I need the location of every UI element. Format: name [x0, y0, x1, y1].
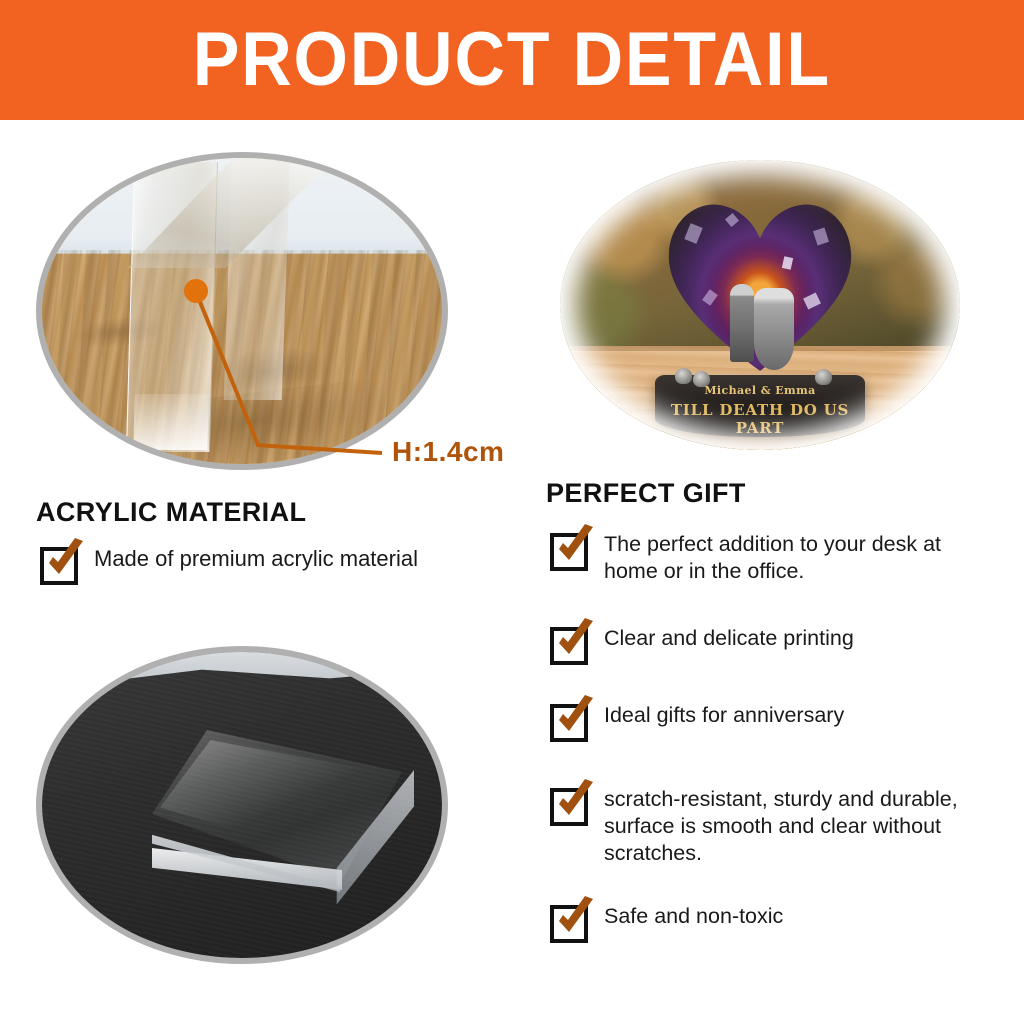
checkbox-checked-icon	[550, 627, 588, 665]
header-banner: PRODUCT DETAIL	[0, 0, 1024, 120]
list-item-label: scratch-resistant, sturdy and durable, s…	[604, 786, 1010, 867]
checkbox-checked-icon	[550, 533, 588, 571]
page-title: PRODUCT DETAIL	[193, 22, 831, 98]
slab-bottom-highlight	[133, 394, 208, 450]
checkmark-icon	[552, 695, 598, 741]
list-item: Made of premium acrylic material	[40, 545, 510, 585]
list-item-label: Made of premium acrylic material	[94, 545, 418, 573]
photo-acrylic-block	[36, 646, 448, 964]
acrylic-slab	[42, 158, 442, 464]
checkmark-icon	[552, 896, 598, 942]
checkmark-icon	[42, 538, 88, 584]
height-label: H:1.4cm	[392, 436, 504, 468]
checkbox-checked-icon	[550, 905, 588, 943]
list-item: Clear and delicate printing	[550, 625, 1000, 665]
list-item-label: Clear and delicate printing	[604, 625, 854, 652]
list-item-label: Safe and non-toxic	[604, 903, 783, 930]
checkbox-checked-icon	[550, 704, 588, 742]
slate-top-edge	[42, 652, 442, 701]
photo-product-lamp: Michael & Emma TILL DEATH DO US PART	[560, 160, 960, 450]
list-item: Safe and non-toxic	[550, 903, 1000, 943]
checkbox-checked-icon	[550, 788, 588, 826]
list-item-label: Ideal gifts for anniversary	[604, 702, 844, 729]
checkmark-icon	[552, 618, 598, 664]
slab-shadow	[188, 376, 395, 470]
checkmark-icon	[552, 524, 598, 570]
photo-acrylic-edge	[36, 152, 448, 470]
heading-acrylic-material: ACRYLIC MATERIAL	[36, 497, 306, 528]
heading-perfect-gift: PERFECT GIFT	[546, 478, 746, 509]
oval-vignette	[560, 160, 960, 450]
list-item-label: The perfect addition to your desk at hom…	[604, 531, 1000, 585]
acrylic-square-block	[152, 730, 402, 900]
checkbox-checked-icon	[40, 547, 78, 585]
checkmark-icon	[552, 779, 598, 825]
list-item: The perfect addition to your desk at hom…	[550, 531, 1000, 585]
list-item: scratch-resistant, sturdy and durable, s…	[550, 786, 1010, 867]
list-item: Ideal gifts for anniversary	[550, 702, 1000, 742]
product-detail-infographic: PRODUCT DETAIL	[0, 0, 1024, 1024]
